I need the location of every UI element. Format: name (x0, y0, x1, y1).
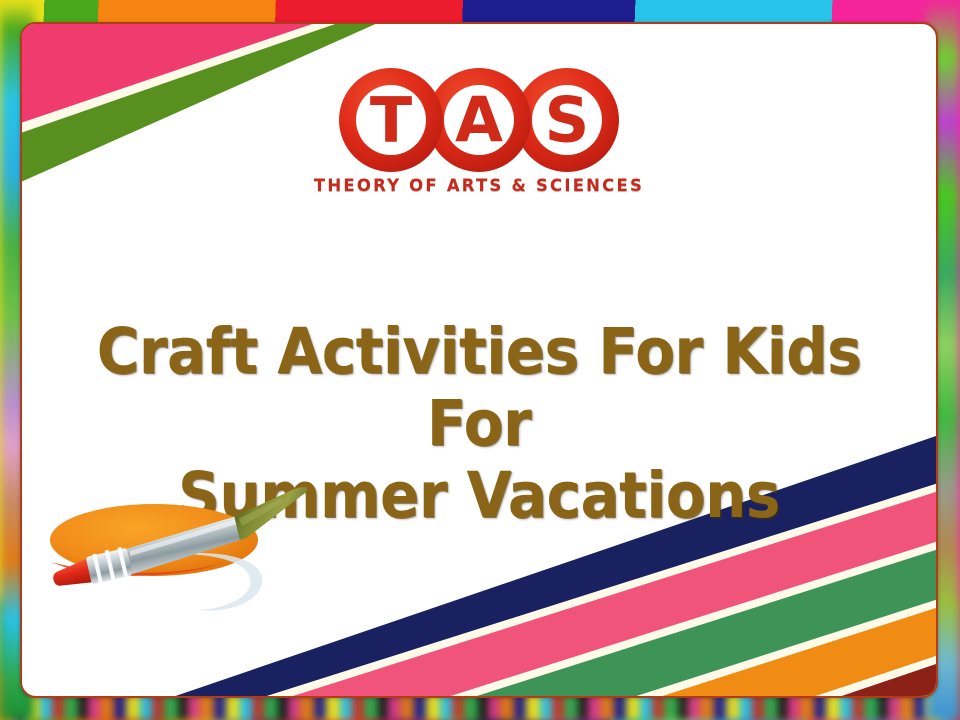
stripe-divider-4 (798, 654, 938, 698)
page-title-line-2: Summer Vacations (95, 460, 862, 532)
page-title-line-1: Craft Activities For Kids For (95, 316, 862, 460)
logo-tagline: THEORY OF ARTS & SCIENCES (314, 176, 644, 195)
logo-letter-t: T (370, 84, 412, 157)
brush-ferrule (86, 548, 133, 585)
brush-ferrule-ring-3 (117, 547, 128, 578)
slide-card: T A S THEORY OF ARTS & SCIENCES Craft Ac… (20, 22, 938, 698)
paint-smear (52, 558, 236, 576)
page-title: Craft Activities For Kids For Summer Vac… (95, 316, 862, 531)
logo-letter-s: S (545, 84, 590, 157)
orange-stripe (644, 606, 938, 698)
paint-dish-shadow (178, 553, 262, 611)
logo-letter-a: A (455, 84, 503, 157)
tas-logo: T A S THEORY OF ARTS & SCIENCES (22, 66, 936, 195)
brush-handle (51, 559, 92, 591)
logo-circles-svg: T A S (337, 66, 621, 174)
stripe-divider-3 (618, 598, 938, 698)
maroon-stripe (824, 662, 938, 698)
stripe-divider-2 (432, 540, 938, 698)
logo-circles: T A S (337, 66, 621, 174)
green-stripe (458, 548, 938, 698)
brush-ferrule-ring-1 (92, 554, 103, 584)
brush-ferrule-ring-2 (105, 550, 116, 581)
slide-stage: T A S THEORY OF ARTS & SCIENCES Craft Ac… (0, 0, 960, 720)
